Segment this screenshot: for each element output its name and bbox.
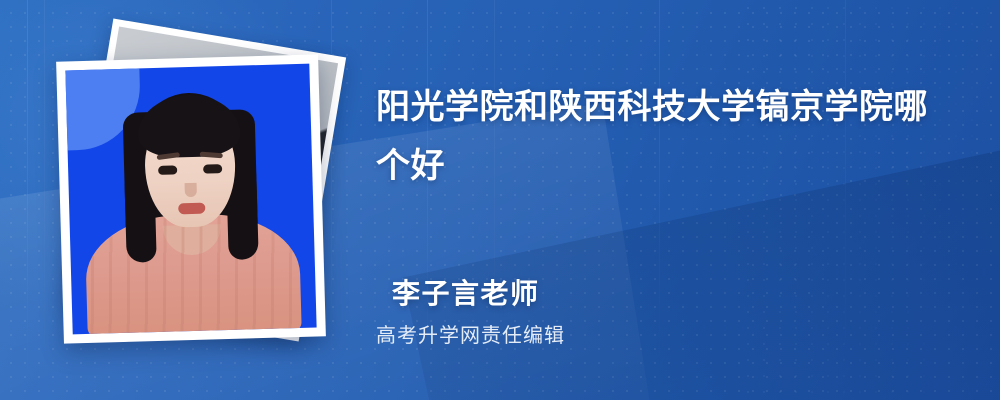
author-name: 李子言老师 xyxy=(392,272,540,312)
portrait-garment-texture xyxy=(84,212,301,334)
portrait-hair-front xyxy=(137,94,241,159)
author-portrait-photo xyxy=(65,64,316,335)
portrait-nose xyxy=(185,183,197,197)
photo-card-front xyxy=(56,54,326,343)
author-role: 高考升学网责任编辑 xyxy=(376,319,565,348)
banner-text-block: 阳光学院和陕西科技大学镐京学院哪个好 李子言老师 高考升学网责任编辑 xyxy=(376,0,976,400)
portrait-lips xyxy=(178,203,205,215)
portrait-eye-left xyxy=(158,165,177,175)
photo-card-stack xyxy=(60,38,340,348)
portrait-eye-right xyxy=(203,164,222,174)
portrait-illustration xyxy=(65,64,316,335)
article-headline: 阳光学院和陕西科技大学镐京学院哪个好 xyxy=(376,78,952,196)
article-cover-banner: 阳光学院和陕西科技大学镐京学院哪个好 李子言老师 高考升学网责任编辑 xyxy=(0,0,1000,400)
